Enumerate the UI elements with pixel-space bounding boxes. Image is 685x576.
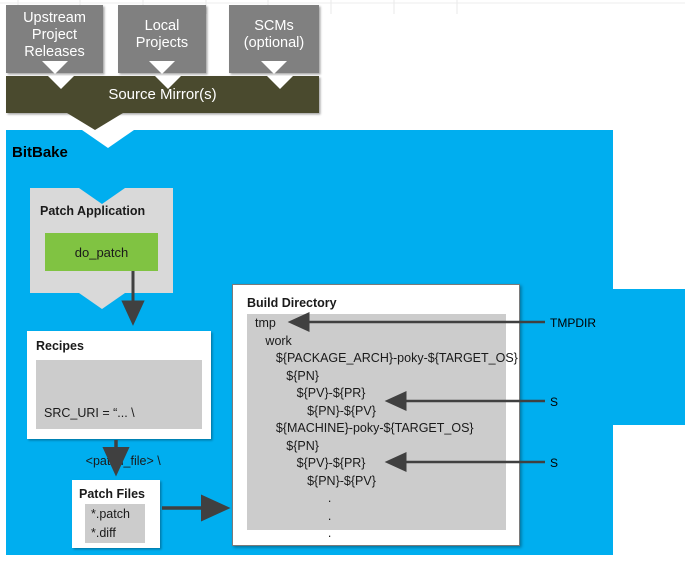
local-projects-label: Local Projects <box>136 18 188 52</box>
tree-node: tmp <box>255 315 518 333</box>
chevron-notch-icon <box>48 76 74 89</box>
tree-node: ${MACHINE}-poky-${TARGET_OS} <box>255 420 518 438</box>
chevron-notch-icon <box>79 188 125 204</box>
tree-node: ${PN}-${PV} <box>255 403 518 421</box>
callout-label-tmpdir: TMPDIR <box>550 316 596 330</box>
tree-node: ${PV}-${PR} <box>255 455 518 473</box>
chevron-notch-icon <box>149 61 175 74</box>
do-patch-task[interactable]: do_patch <box>45 233 158 271</box>
bitbake-region-extension <box>613 289 685 425</box>
tree-node: ${PN} <box>255 438 518 456</box>
upstream-project-releases-label: Upstream Project Releases <box>23 10 86 61</box>
tree-node: ${PACKAGE_ARCH}-poky-${TARGET_OS} <box>255 350 518 368</box>
patch-file-item: *.patch <box>91 505 130 524</box>
build-directory-tree: tmp work ${PACKAGE_ARCH}-poky-${TARGET_O… <box>255 315 518 543</box>
chevron-notch-icon <box>155 76 181 89</box>
src-uri-line: SRC_URI = “... \ <box>44 405 161 421</box>
chevron-notch-icon <box>267 76 293 89</box>
source-mirrors-bar[interactable]: Source Mirror(s) <box>6 76 319 113</box>
tree-node: . <box>255 490 518 508</box>
patch-application-title: Patch Application <box>40 204 145 218</box>
chevron-point-icon <box>79 293 125 309</box>
bitbake-label: BitBake <box>12 144 68 161</box>
chevron-notch-icon <box>261 61 287 74</box>
patch-files-title: Patch Files <box>79 487 145 501</box>
patch-file-item: *.diff <box>91 524 130 543</box>
recipes-title: Recipes <box>36 339 84 353</box>
tree-node: ${PN}-${PV} <box>255 473 518 491</box>
do-patch-label: do_patch <box>75 245 129 260</box>
callout-label-s-2: S <box>550 456 558 470</box>
diagram-canvas: BitBake Upstream Project Releases Local … <box>0 0 685 576</box>
src-uri-line: <patch_file> \ <box>44 453 161 469</box>
tree-node: ${PV}-${PR} <box>255 385 518 403</box>
local-projects-box[interactable]: Local Projects <box>118 5 206 73</box>
bitbake-inlet-notch <box>82 130 134 148</box>
build-directory-title: Build Directory <box>247 296 337 310</box>
tree-node: . <box>255 525 518 543</box>
patch-files-list: *.patch *.diff <box>91 505 130 543</box>
callout-label-s-1: S <box>550 395 558 409</box>
tree-node: work <box>255 333 518 351</box>
scms-optional-label: SCMs (optional) <box>244 18 304 52</box>
scms-optional-box[interactable]: SCMs (optional) <box>229 5 319 73</box>
tree-node: . <box>255 508 518 526</box>
source-mirrors-point-icon <box>67 113 123 130</box>
tree-node: ${PN} <box>255 368 518 386</box>
chevron-notch-icon <box>42 61 68 74</box>
upstream-project-releases-box[interactable]: Upstream Project Releases <box>6 5 103 73</box>
